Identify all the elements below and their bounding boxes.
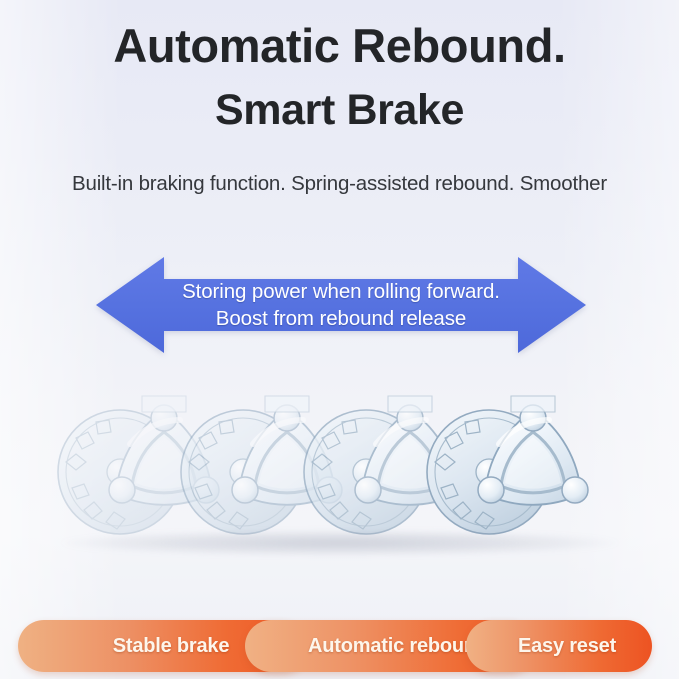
feature-pill-label: Automatic rebound [308,635,488,658]
feature-pill-bar: Stable brake Automatic rebound Easy rese… [0,616,679,679]
page-title-line-2: Smart Brake [0,89,679,132]
brake-rotor-illustration [0,382,679,582]
product-image-sequence [0,382,679,582]
subtitle: Built-in braking function. Spring-assist… [0,172,679,196]
double-arrow-icon [96,253,586,357]
arrow-banner: Storing power when rolling forward. Boos… [96,253,586,357]
product-marketing-poster: Automatic Rebound. Smart Brake Built-in … [0,0,679,679]
feature-pill-label: Stable brake [113,635,230,658]
caster-frame-4 [427,396,588,534]
feature-pill-easy-reset[interactable]: Easy reset [466,620,652,672]
page-title-line-1: Automatic Rebound. [0,22,679,69]
feature-pill-label: Easy reset [518,635,616,658]
